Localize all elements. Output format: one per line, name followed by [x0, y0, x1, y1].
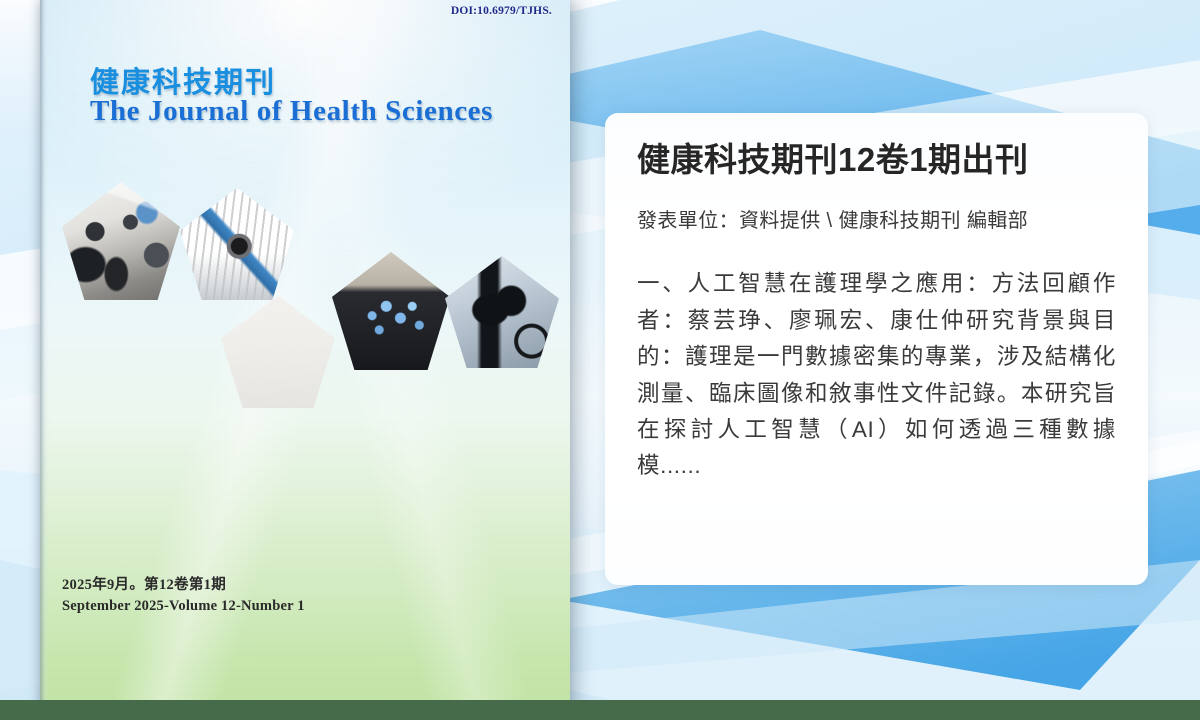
- bottom-band: [0, 700, 1200, 720]
- article-card: 健康科技期刊12卷1期出刊 發表單位：資料提供 \ 健康科技期刊 編輯部 一、人…: [605, 113, 1148, 585]
- journal-cover[interactable]: DOI:10.6979/TJHS. 健康科技期刊 The Journal of …: [40, 0, 570, 720]
- article-title: 健康科技期刊12卷1期出刊: [637, 139, 1116, 180]
- cover-spine: [40, 0, 49, 720]
- cover-issue-english: September 2025-Volume 12-Number 1: [62, 598, 305, 615]
- page-root: DOI:10.6979/TJHS. 健康科技期刊 The Journal of …: [0, 0, 1200, 720]
- cover-issue-chinese: 2025年9月。第12卷第1期: [62, 573, 226, 594]
- cover-title-english: The Journal of Health Sciences: [90, 95, 493, 128]
- cover-doi: DOI:10.6979/TJHS.: [451, 5, 552, 17]
- article-excerpt: 一、人工智慧在護理學之應用：方法回顧作者：蔡芸琤、廖珮宏、康仕仲研究背景與目的：…: [637, 266, 1116, 485]
- article-publisher-meta: 發表單位：資料提供 \ 健康科技期刊 編輯部: [637, 206, 1116, 236]
